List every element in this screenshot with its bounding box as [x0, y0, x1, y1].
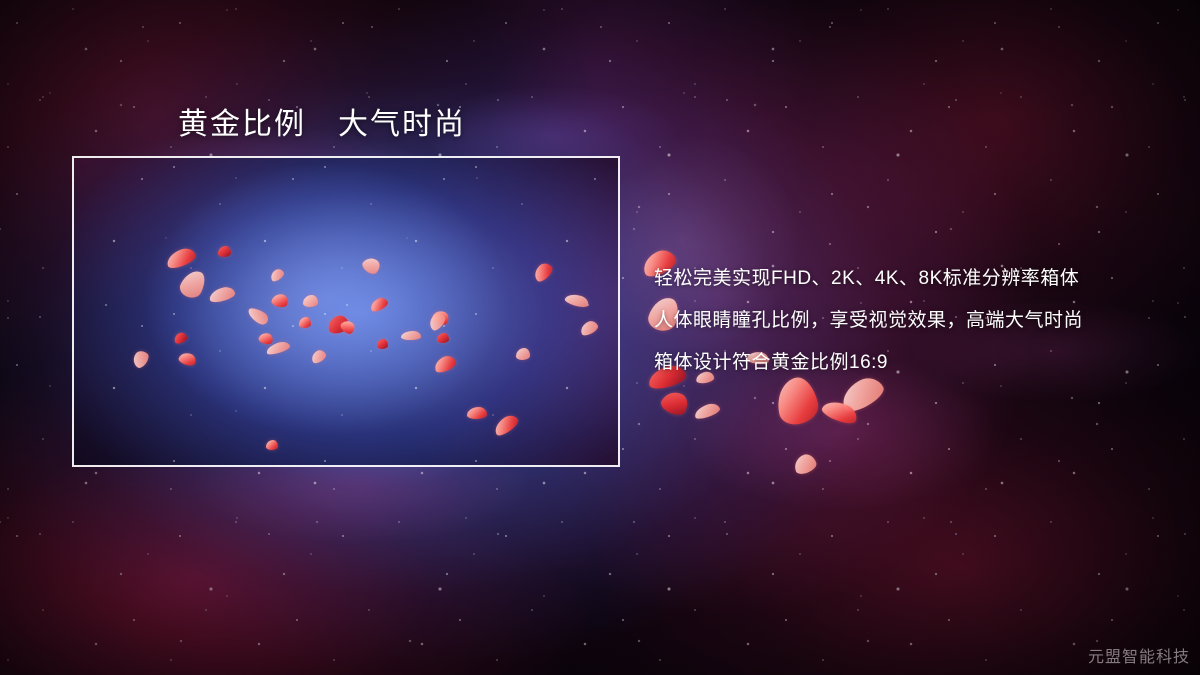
framed-nebula-background	[74, 158, 618, 465]
petal	[792, 452, 819, 476]
petal	[516, 348, 530, 360]
framed-photo-content	[74, 158, 618, 465]
petal	[693, 401, 721, 420]
page-title: 黄金比例 大气时尚	[178, 99, 466, 143]
description-line: 箱体设计符合黄金比例16:9	[654, 342, 1154, 384]
petal	[401, 331, 421, 340]
framed-photo	[74, 158, 618, 465]
feature-description: 轻松完美实现FHD、2K、4K、8K标准分辨率箱体 人体眼睛瞳孔比例，享受视觉效…	[654, 258, 1154, 384]
petal	[303, 295, 318, 307]
petal	[467, 407, 487, 419]
petal	[218, 246, 231, 257]
petal	[266, 440, 278, 450]
presentation-slide: 黄金比例 大气时尚 轻松完美实现FHD、2K、4K、8K标准分辨率箱体 人体眼睛…	[0, 0, 1200, 675]
petal	[437, 333, 449, 343]
petal	[377, 339, 388, 349]
framed-starfield	[74, 158, 618, 465]
framed-starfield-2	[74, 158, 618, 465]
petal	[658, 387, 691, 418]
watermark-label: 元盟智能科技	[1088, 643, 1190, 667]
description-line: 人体眼睛瞳孔比例，享受视觉效果，高端大气时尚	[654, 300, 1154, 342]
product-image-frame	[72, 156, 620, 467]
petal	[299, 317, 311, 328]
description-line: 轻松完美实现FHD、2K、4K、8K标准分辨率箱体	[654, 258, 1154, 300]
